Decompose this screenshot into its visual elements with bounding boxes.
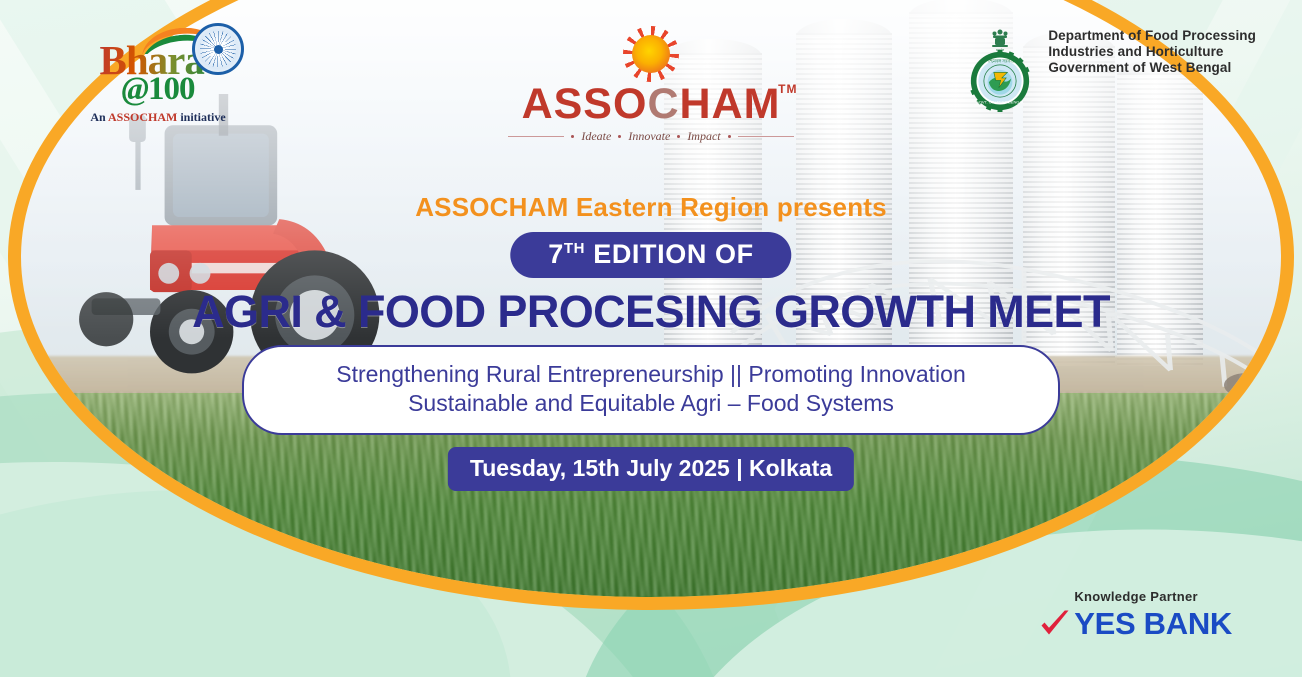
yes-bank-check-icon — [1040, 610, 1070, 638]
tagline-innovate: Innovate — [628, 129, 670, 144]
assocham-tagline: Ideate Innovate Impact — [0, 129, 1302, 144]
sun-burst-icon — [623, 26, 679, 82]
svg-text:GOVT. OF WEST BENGAL: GOVT. OF WEST BENGAL — [976, 99, 1026, 104]
assocham-wordmark: ASSOCHAMTM — [522, 84, 781, 125]
edition-badge: 7TH EDITION OF — [510, 232, 791, 278]
dept-line-1: Department of Food Processing — [1048, 28, 1256, 44]
knowledge-partner-block: Knowledge Partner YES BANK — [1040, 589, 1232, 639]
knowledge-partner-label: Knowledge Partner — [1040, 589, 1232, 604]
tagline-impact: Impact — [687, 129, 720, 144]
west-bengal-dept-text: Department of Food Processing Industries… — [1048, 28, 1256, 76]
west-bengal-dept-logo: सत्यमेव — [964, 28, 1256, 112]
assocham-word-part1: ASSO — [522, 80, 648, 128]
dept-line-2: Industries and Horticulture — [1048, 44, 1256, 60]
dept-line-3: Government of West Bengal — [1048, 60, 1256, 76]
trademark-icon: TM — [778, 84, 797, 95]
tagline-ideate: Ideate — [581, 129, 611, 144]
date-venue-badge: Tuesday, 15th July 2025 | Kolkata — [448, 447, 854, 491]
ashoka-emblem-icon: सत्यमेव — [990, 28, 1010, 52]
yes-bank-wordmark: YES BANK — [1074, 608, 1232, 639]
svg-text:পশ্চিমবঙ্গ সরকার: পশ্চিমবঙ্গ সরকার — [986, 58, 1015, 63]
yes-bank-logo: YES BANK — [1040, 608, 1232, 639]
edition-ordinal: TH — [564, 240, 585, 257]
page-title: AGRI & FOOD PROCESING GROWTH MEET — [0, 289, 1302, 334]
edition-number: 7 — [548, 239, 564, 269]
presents-line: ASSOCHAM Eastern Region presents — [0, 192, 1302, 223]
assocham-word-part2: C — [647, 80, 679, 128]
assocham-word-part3: HAM — [680, 80, 781, 128]
west-bengal-seal-icon: পশ্চিমবঙ্গ সরকার GOVT. OF WEST BENGAL — [967, 50, 1033, 112]
theme-line-2: Sustainable and Equitable Agri – Food Sy… — [274, 389, 1028, 418]
theme-line-1: Strengthening Rural Entrepreneurship || … — [274, 360, 1028, 389]
edition-suffix: EDITION OF — [585, 239, 754, 269]
theme-box: Strengthening Rural Entrepreneurship || … — [242, 345, 1060, 435]
event-banner: Bharat ˯ ˯˯ @100 An ASSOCHAM initiative … — [0, 0, 1302, 677]
